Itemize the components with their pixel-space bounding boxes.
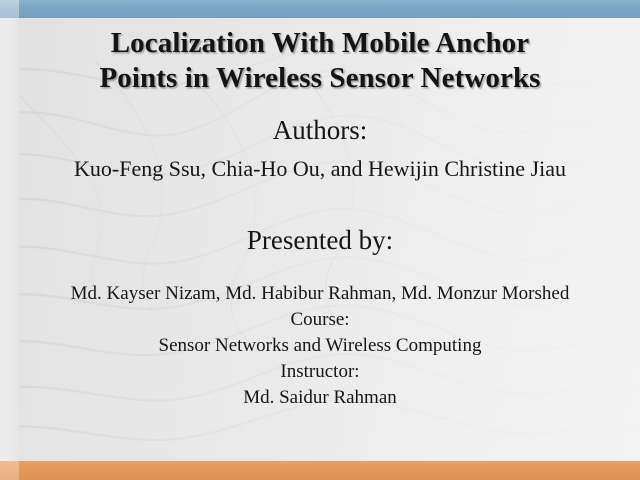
authors-names: Kuo-Feng Ssu, Chia-Ho Ou, and Hewijin Ch… [0, 155, 640, 182]
instructor-name: Md. Saidur Rahman [0, 385, 640, 411]
presentation-slide: Localization With Mobile Anchor Points i… [0, 0, 640, 480]
presenter-names: Md. Kayser Nizam, Md. Habibur Rahman, Md… [0, 281, 640, 307]
presented-by-label: Presented by: [0, 224, 640, 256]
title-line-1: Localization With Mobile Anchor [0, 26, 640, 61]
course-label: Course: [0, 307, 640, 333]
course-name: Sensor Networks and Wireless Computing [0, 333, 640, 359]
bottom-accent-bar-left-strip [0, 461, 19, 480]
authors-label: Authors: [0, 114, 640, 146]
page-title: Localization With Mobile Anchor Points i… [0, 26, 640, 96]
credits-block: Md. Kayser Nizam, Md. Habibur Rahman, Md… [0, 281, 640, 411]
instructor-label: Instructor: [0, 359, 640, 385]
bottom-accent-bar [0, 461, 640, 480]
title-line-2: Points in Wireless Sensor Networks [0, 61, 640, 96]
slide-content: Localization With Mobile Anchor Points i… [0, 0, 640, 480]
